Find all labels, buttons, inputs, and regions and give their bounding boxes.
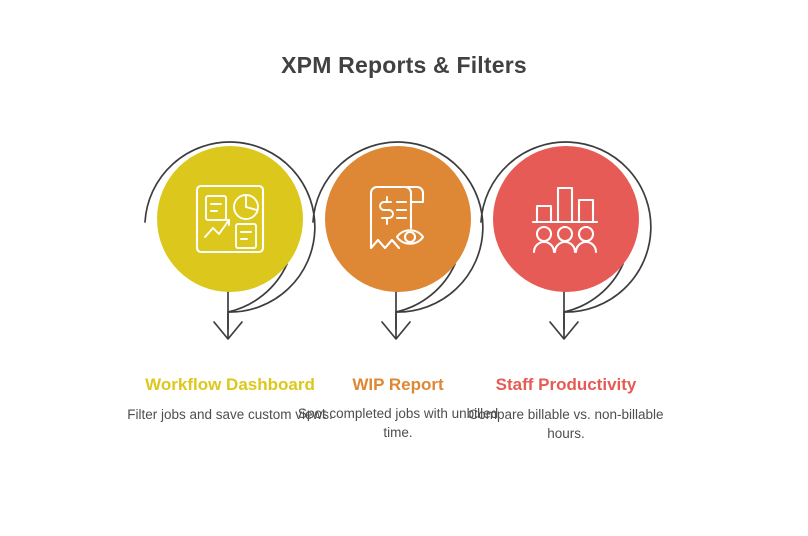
step-description: Compare billable vs. non-billable hours. — [451, 406, 681, 443]
step-title: Staff Productivity — [451, 374, 681, 396]
dashboard-chart-icon — [157, 146, 303, 292]
bar-chart-people-icon — [493, 146, 639, 292]
step-icon-circle[interactable] — [325, 146, 471, 292]
step-icon-circle[interactable] — [157, 146, 303, 292]
step-icon-circle[interactable] — [493, 146, 639, 292]
step-caption: Staff Productivity Compare billable vs. … — [451, 374, 681, 443]
infographic-canvas: XPM Reports & Filters — [0, 0, 808, 536]
step-card-staff-productivity[interactable]: Staff Productivity Compare billable vs. … — [451, 0, 681, 536]
invoice-receipt-eye-icon — [325, 146, 471, 292]
